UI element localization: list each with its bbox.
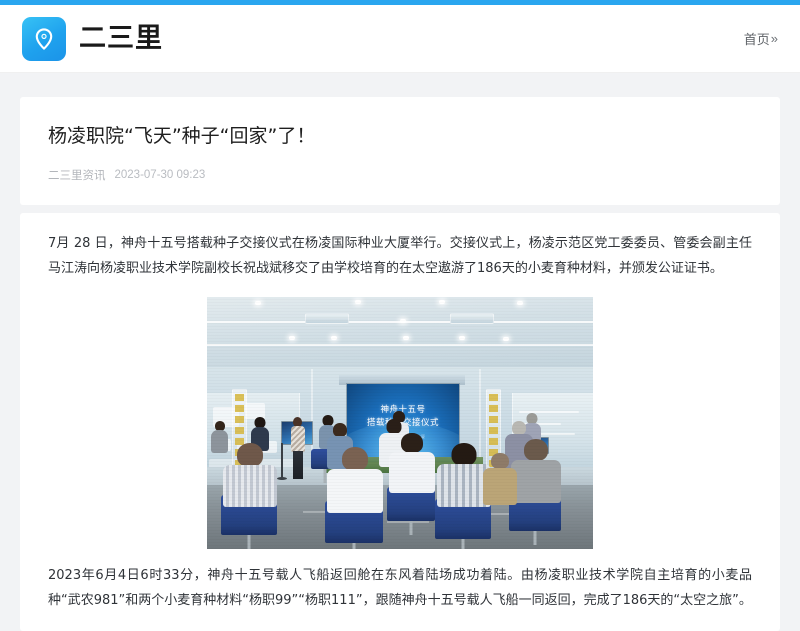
photo-audience-head: [401, 433, 423, 453]
photo-audience-torso: [327, 469, 383, 513]
photo-audience-head: [255, 417, 266, 428]
home-link-label: 首页: [744, 29, 770, 48]
photo-audience-torso: [511, 460, 561, 503]
photo-audience-member: [327, 447, 383, 513]
photo-ceiling-band: [207, 344, 593, 346]
photo-ceiling-light: [503, 337, 509, 341]
photo-audience-torso: [223, 465, 277, 507]
page-body: 杨凌职院“飞天”种子“回家”了！ 二三里资讯 2023-07-30 09:23 …: [0, 73, 800, 631]
photo-audience-head: [512, 421, 526, 435]
photo-ceiling-light: [403, 336, 409, 340]
photo-ceiling-projector: [400, 319, 406, 323]
photo-ceiling-light: [255, 301, 261, 305]
photo-audience-member: [483, 453, 517, 505]
article-paragraph-2: 2023年6月4日6时33分，神舟十五号载人飞船返回舱在东风着陆场成功着陆。由杨…: [48, 563, 752, 613]
article-paragraph-1: 7月 28 日，神舟十五号搭载种子交接仪式在杨凌国际种业大厦举行。交接仪式上，杨…: [48, 231, 752, 281]
photo-presenter-legs: [293, 451, 303, 479]
photo-ceiling-light: [459, 336, 465, 340]
photo-audience-torso: [483, 468, 517, 505]
photo-audience-member: [223, 443, 277, 507]
article-figure: 神舟十五号 搭载种子交接仪式 杨凌示范区国际种业大厦 2023: [48, 297, 752, 549]
photo-ac-vent: [450, 313, 494, 324]
photo-microphone-stand: [281, 443, 283, 479]
double-chevron-right-icon: »: [771, 31, 778, 46]
photo-audience-head: [342, 447, 368, 471]
photo-ac-vent: [305, 313, 349, 324]
photo-floor-line: [387, 521, 429, 523]
brand-name: 二三里: [79, 25, 163, 52]
article-date: 2023-07-30 09:23: [115, 169, 206, 181]
photo-audience-head: [387, 419, 402, 434]
photo-ceiling-light: [289, 336, 295, 340]
photo-audience-head: [452, 443, 477, 466]
page-title: 杨凌职院“飞天”种子“回家”了！: [48, 123, 752, 150]
photo-audience-torso: [389, 452, 435, 493]
article-header-card: 杨凌职院“飞天”种子“回家”了！ 二三里资讯 2023-07-30 09:23: [20, 97, 780, 205]
article-meta: 二三里资讯 2023-07-30 09:23: [48, 167, 752, 183]
photo-ceiling-light: [355, 300, 361, 304]
photo-audience-head: [237, 443, 263, 467]
article-source: 二三里资讯: [48, 167, 106, 183]
photo-presenter-body: [291, 426, 305, 452]
photo-ceiling-light: [439, 300, 445, 304]
home-link[interactable]: 首页 »: [744, 29, 778, 48]
brand[interactable]: 二三里: [22, 17, 163, 61]
site-header: 二三里 首页 »: [0, 5, 800, 73]
photo-ceiling: [207, 297, 593, 371]
photo-audience-member: [511, 439, 561, 503]
article-content-card: 7月 28 日，神舟十五号搭载种子交接仪式在杨凌国际种业大厦举行。交接仪式上，杨…: [20, 213, 780, 631]
photo-audience-head: [333, 423, 347, 437]
location-pin-icon: [22, 17, 66, 61]
photo-presenter: [290, 417, 306, 479]
photo-ceiling-light: [331, 336, 337, 340]
photo-ceiling-light: [517, 301, 523, 305]
photo-audience-member: [389, 433, 435, 493]
photo-audience-head: [524, 439, 548, 461]
article-photo: 神舟十五号 搭载种子交接仪式 杨凌示范区国际种业大厦 2023: [207, 297, 593, 549]
photo-audience-head: [491, 453, 509, 469]
